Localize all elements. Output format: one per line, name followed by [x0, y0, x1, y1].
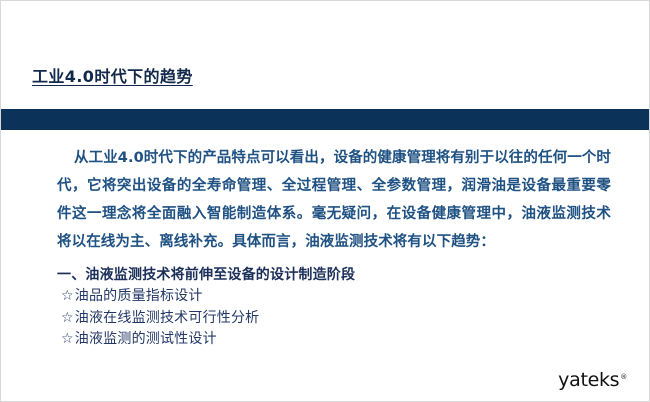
list-item: ☆油液在线监测技术可行性分析: [61, 308, 617, 330]
list-item: ☆油液监测的测试性设计: [61, 329, 617, 351]
section-block: 一、油液监测技术将前伸至设备的设计制造阶段 ☆油品的质量指标设计 ☆油液在线监测…: [57, 264, 617, 351]
bullet-list: ☆油品的质量指标设计 ☆油液在线监测技术可行性分析 ☆油液监测的测试性设计: [57, 286, 617, 351]
title-divider-band: [1, 109, 650, 130]
body-text-block: 从工业4.0时代下的产品特点可以看出，设备的健康管理将有别于以往的任何一个时代，…: [57, 144, 611, 256]
star-icon: ☆: [61, 308, 74, 330]
body-paragraph: 从工业4.0时代下的产品特点可以看出，设备的健康管理将有别于以往的任何一个时代，…: [57, 144, 611, 256]
list-item-label: 油液在线监测技术可行性分析: [75, 310, 260, 326]
star-icon: ☆: [61, 286, 74, 308]
list-item-label: 油品的质量指标设计: [75, 288, 203, 304]
star-icon: ☆: [61, 329, 74, 351]
list-item: ☆油品的质量指标设计: [61, 286, 617, 308]
slide: 工业4.0时代下的趋势 从工业4.0时代下的产品特点可以看出，设备的健康管理将有…: [0, 0, 650, 402]
section-heading: 一、油液监测技术将前伸至设备的设计制造阶段: [57, 264, 617, 286]
list-item-label: 油液监测的测试性设计: [75, 331, 217, 347]
brand-logo: yateks®: [558, 371, 627, 390]
page-title: 工业4.0时代下的趋势: [32, 63, 193, 87]
registered-trademark-icon: ®: [620, 373, 627, 381]
brand-logo-text: yateks: [558, 369, 619, 391]
